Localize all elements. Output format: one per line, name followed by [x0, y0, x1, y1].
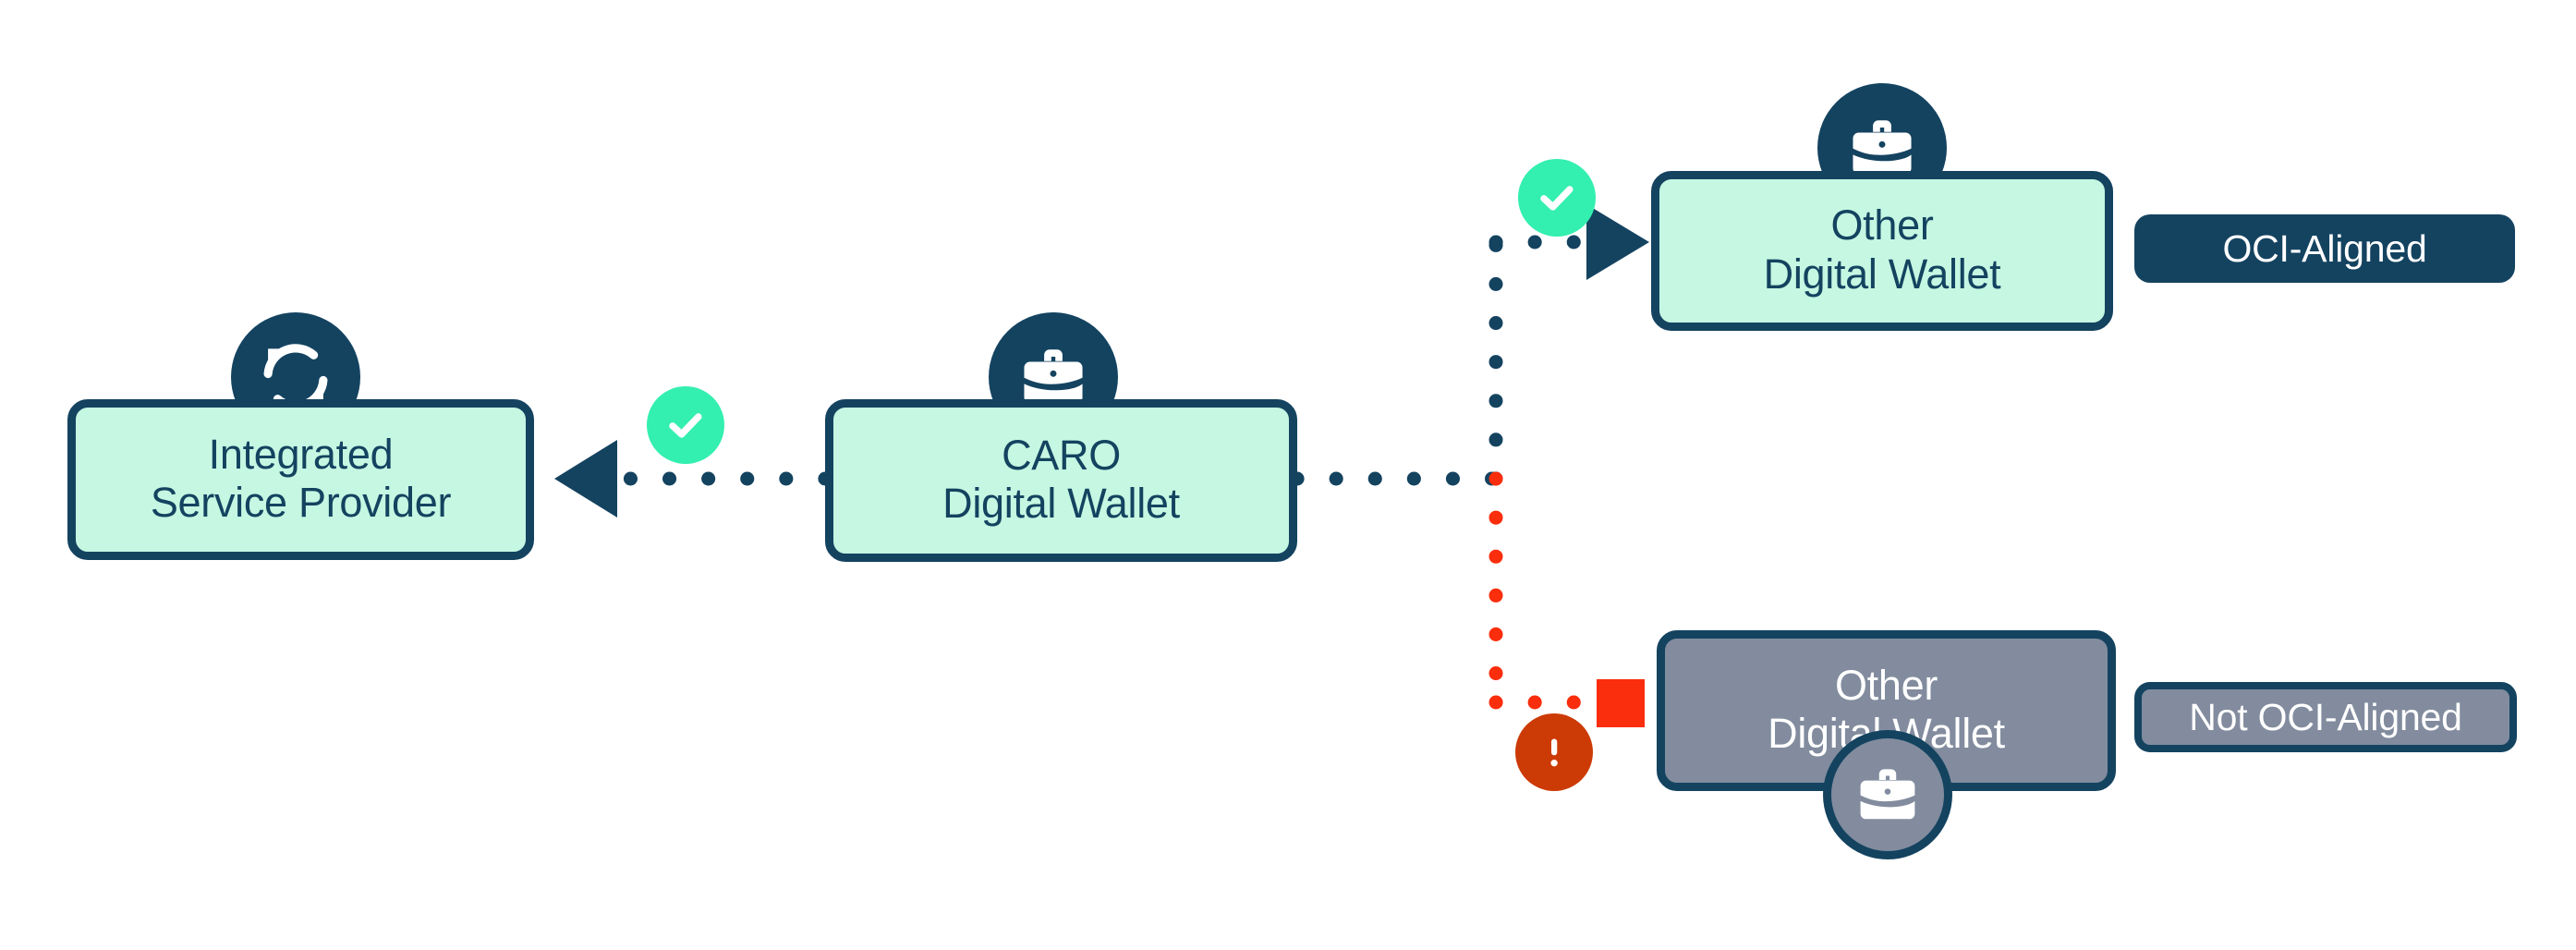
status-badge-label: OCI-Aligned [2222, 227, 2426, 271]
node-label: CARO Digital Wallet [942, 432, 1180, 530]
status-badge-not-oci-aligned: Not OCI-Aligned [2134, 682, 2517, 752]
stop-square-icon [1597, 679, 1645, 727]
node-label: Other Digital Wallet [1764, 201, 2001, 299]
status-badge-label: Not OCI-Aligned [2189, 696, 2462, 739]
check-circle-icon-to-isp [647, 386, 724, 464]
diagram-canvas: Integrated Service Provider CARO Digital… [0, 0, 2576, 950]
node-other-digital-wallet-aligned[interactable]: Other Digital Wallet [1651, 171, 2113, 331]
node-label: Integrated Service Provider [151, 431, 451, 529]
exclamation-circle-icon [1515, 713, 1593, 791]
check-circle-icon-to-aligned-wallet [1518, 159, 1596, 237]
node-integrated-service-provider[interactable]: Integrated Service Provider [67, 399, 534, 560]
status-badge-oci-aligned: OCI-Aligned [2134, 214, 2515, 283]
connector-junction-down-blocked [1496, 479, 1582, 702]
node-caro-digital-wallet[interactable]: CARO Digital Wallet [825, 399, 1297, 562]
briefcase-icon [1823, 730, 1952, 859]
